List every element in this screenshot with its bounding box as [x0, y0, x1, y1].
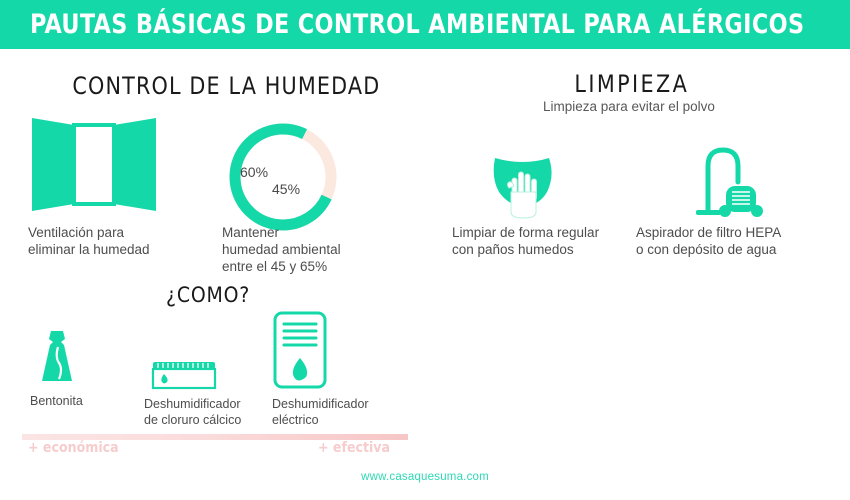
caption-electric-dehumidifier: Deshumidificador eléctrico [272, 396, 402, 428]
cleaning-cloth-hand-icon [487, 150, 559, 220]
scale-label-economical: + económica [28, 440, 119, 456]
electric-dehumidifier-icon [272, 310, 328, 390]
header-banner: PAUTAS BÁSICAS DE CONTROL AMBIENTAL PARA… [0, 0, 850, 49]
section-heading-how: ¿COMO? [166, 283, 250, 307]
footer-website-url[interactable]: www.casaquesuma.com [0, 471, 850, 483]
scale-label-effective: + efectiva [318, 440, 390, 456]
section-subheading-cleaning: Limpieza para evitar el polvo [543, 99, 715, 114]
bentonite-sack-icon [34, 329, 80, 387]
donut-label-60: 60% [240, 164, 268, 180]
caption-maintain-humidity: Mantener humedad ambiental entre el 45 y… [222, 224, 372, 275]
vacuum-cleaner-icon [692, 142, 768, 220]
calcium-chloride-tray-icon [150, 360, 218, 391]
donut-label-45: 45% [272, 181, 300, 197]
section-heading-cleaning: LIMPIEZA [574, 70, 689, 98]
caption-clean-regularly: Limpiar de forma regular con paños humed… [452, 224, 632, 258]
page-title: PAUTAS BÁSICAS DE CONTROL AMBIENTAL PARA… [30, 9, 804, 40]
caption-calcium-chloride: Deshumidificador de cloruro cálcico [144, 396, 284, 428]
open-window-icon [30, 112, 158, 217]
section-heading-humidity: CONTROL DE LA HUMEDAD [72, 72, 380, 100]
caption-ventilation: Ventilación para eliminar la humedad [28, 224, 188, 258]
caption-bentonite: Bentonita [30, 393, 150, 409]
caption-hepa-vacuum: Aspirador de filtro HEPA o con depósito … [636, 224, 811, 258]
